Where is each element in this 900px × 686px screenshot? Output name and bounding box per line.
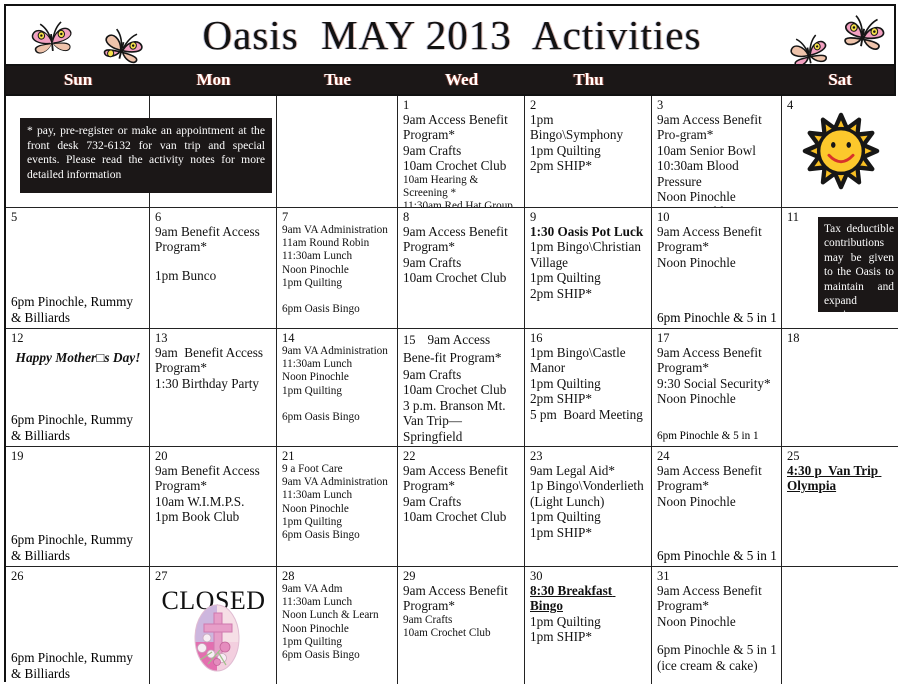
event-item: 2pm SHIP* (530, 286, 647, 301)
day-cell-20[interactable]: 209am Benefit Access Program*10am W.I.M.… (150, 447, 277, 567)
event-item: 6pm Pinochle & 5 in 1 (657, 430, 777, 443)
event-item: 6pm Oasis Bingo (282, 303, 393, 316)
event-item: 6pm Oasis Bingo (282, 529, 393, 542)
butterfly-icon (835, 10, 892, 62)
event-item: 1pm Quilting (282, 277, 393, 290)
event-item: 1pm Quilting (530, 614, 647, 629)
day-cell-19[interactable]: 196pm Pinochle, Rummy & Billiards (6, 447, 150, 567)
event-item: 10am Crochet Club (403, 382, 520, 397)
event-item: 9am Access Benefit Program* (657, 224, 777, 255)
event-list: 9am Access Benefit Pro-gram*10am Senior … (657, 112, 777, 208)
calendar-page: Oasis MAY 2013 Activities (0, 0, 900, 686)
event-item: 11:30am Lunch (282, 250, 393, 263)
event-list: 9am VA Adm11:30am LunchNoon Lunch & Lear… (282, 583, 393, 662)
event-item: 1pm Quilting (530, 376, 647, 391)
event-item: Noon Pinochle (282, 623, 393, 636)
event-item: 9am Benefit Access Program* (155, 224, 272, 255)
event-item: 1pm Bingo\Christian Village (530, 239, 647, 270)
event-item: (ice cream & cake) (657, 658, 777, 673)
day-cell-22[interactable]: 229am Access Benefit Program*9am Crafts1… (398, 447, 525, 567)
butterfly-icon (26, 18, 78, 65)
event-list: 9am Benefit Access Program*1pm Bunco (155, 224, 272, 283)
event-item: Happy Mother□s Day! (11, 345, 145, 365)
day-number: 14 (282, 331, 393, 345)
event-item: 11am Round Robin (282, 237, 393, 250)
weekday-header-sat: Sat (782, 66, 898, 94)
event-list: 9am Access Benefit Program*9am Crafts10a… (403, 224, 520, 286)
event-item: 9am Access Benefit Pro-gram* (657, 112, 777, 143)
day-number: 16 (530, 331, 647, 345)
event-list: 1pm Bingo\Castle Manor1pm Quilting2pm SH… (530, 345, 647, 422)
day-number: 31 (657, 569, 777, 583)
event-item: 9 a Foot Care (282, 463, 393, 476)
event-item: 1p Bingo\Vonderlieth (Light Lunch) (530, 478, 647, 509)
event-list: 9am Access Benefit Program*Noon Pinochle (657, 224, 777, 270)
day-number: 24 (657, 449, 777, 463)
day-cell-12[interactable]: 126pm Pinochle, Rummy & BilliardsHappy M… (6, 329, 150, 447)
event-item: 6pm Pinochle, Rummy & Billiards (11, 532, 145, 563)
day-cell-10[interactable]: 106pm Pinochle & 5 in 19am Access Benefi… (652, 208, 782, 329)
event-item: Noon Pinochle (657, 494, 777, 509)
day-cell-2[interactable]: 21pm Bingo\Symphony1pm Quilting2pm SHIP* (525, 96, 652, 208)
day-cell-1[interactable]: 19am Access Benefit Program*9am Crafts10… (398, 96, 525, 208)
day-cell-31[interactable]: 319am Access Benefit Program*Noon Pinoch… (652, 567, 782, 684)
event-item: 9am Crafts (403, 143, 520, 158)
event-item: 6pm Pinochle & 5 in 1 (657, 310, 777, 325)
event-list: 9am Access Benefit Program*Noon Pinochle… (657, 583, 777, 673)
event-item: 6pm Pinochle, Rummy & Billiards (11, 294, 145, 325)
day-cell-27[interactable]: 27CLOSED (150, 567, 277, 684)
event-item: 1:30 Birthday Party (155, 376, 272, 391)
event-list: 9am Benefit Access Program*10am W.I.M.P.… (155, 463, 272, 525)
day-number: 7 (282, 210, 393, 224)
event-item: 3 p.m. Branson Mt. Van Trip—Springfield (403, 398, 520, 444)
event-item: 9am Access Benefit Program* (403, 463, 520, 494)
day-number: 22 (403, 449, 520, 463)
event-item: 9am Access Benefit Program* (403, 224, 520, 255)
event-item: 4:30 p Van Trip Olympia (787, 463, 894, 494)
event-item: 9am Crafts (403, 367, 520, 382)
event-item: 1pm Quilting (530, 143, 647, 158)
event-item: 1pm Quilting (530, 270, 647, 285)
event-list: 1pm Bingo\Symphony1pm Quilting2pm SHIP* (530, 112, 647, 174)
event-item: 10am Crochet Club (403, 270, 520, 285)
day-cell-4[interactable]: 4 (782, 96, 898, 208)
weekday-header-blank (652, 66, 782, 94)
event-item: 5 pm Board Meeting (530, 407, 647, 422)
event-item: 10am Senior Bowl (657, 143, 777, 158)
tax-deductible-note: Tax deductible contributions may be give… (818, 217, 898, 312)
day-cell-29[interactable]: 299am Access Benefit Program*9am Crafts1… (398, 567, 525, 684)
day-cell-11[interactable]: 11Tax deductible contributions may be gi… (782, 208, 898, 329)
day-number: 13 (155, 331, 272, 345)
event-list: 9am Access Benefit Program*Noon Pinochle (657, 463, 777, 509)
day-cell-15[interactable]: 15 9am Access Bene-fit Program*9am Craft… (398, 329, 525, 447)
day-cell-21[interactable]: 219 a Foot Care9am VA Administration11:3… (277, 447, 398, 567)
weekday-header-mon: Mon (150, 66, 277, 94)
memorial-cross-icon (188, 602, 246, 674)
event-item: Noon Pinochle (657, 614, 777, 629)
event-item: 1pm Quilting (282, 636, 393, 649)
event-item: 6pm Pinochle & 5 in 1 (657, 548, 777, 563)
day-number: 26 (11, 569, 145, 583)
event-item: Noon Pinochle (282, 503, 393, 516)
day-number: 20 (155, 449, 272, 463)
day-number: 28 (282, 569, 393, 583)
event-item: 11:30am Red Hat Group (403, 200, 520, 208)
day-number: 15 (403, 333, 416, 347)
event-item: 9am Crafts (403, 494, 520, 509)
event-item: Noon Pinochle (657, 255, 777, 270)
calendar-grid: 19am Access Benefit Program*9am Crafts10… (4, 94, 896, 682)
event-list: 4:30 p Van Trip Olympia (787, 463, 894, 494)
day-number: 2 (530, 98, 647, 112)
day-number: 1 (403, 98, 520, 112)
event-item: 9:30 Social Security* (657, 376, 777, 391)
event-list: 9am Access Benefit Program*9:30 Social S… (657, 345, 777, 407)
event-item: 6pm Oasis Bingo (282, 411, 393, 424)
event-item: 10am Crochet Club (403, 158, 520, 173)
day-cell-14[interactable]: 149am VA Administration11:30am LunchNoon… (277, 329, 398, 447)
event-item: 9am Legal Aid* (530, 463, 647, 478)
event-item: 9am Access Benefit Program* (403, 583, 520, 614)
event-item: 9am VA Adm (282, 583, 393, 596)
event-item: 8:30 Breakfast Bingo (530, 583, 647, 614)
day-number: 6 (155, 210, 272, 224)
event-item: 9am Access Benefit Program* (657, 345, 777, 376)
day-number: 27 (155, 569, 272, 583)
day-cell-18[interactable]: 18 (782, 329, 898, 447)
event-list: 1:30 Oasis Pot Luck1pm Bingo\Christian V… (530, 224, 647, 301)
event-spacer (155, 255, 272, 268)
day-number: 18 (787, 331, 894, 345)
event-item: 11:30am Lunch (282, 596, 393, 609)
event-item: 1pm Quilting (282, 516, 393, 529)
day-cell-25[interactable]: 254:30 p Van Trip Olympia (782, 447, 898, 567)
day-number: 19 (11, 449, 145, 463)
day-cell-3[interactable]: 39am Access Benefit Pro-gram*10am Senior… (652, 96, 782, 208)
day-number: 9 (530, 210, 647, 224)
weekday-header-row: SunMonTueWedThuSat (4, 66, 896, 94)
event-item: 10am Hearing & Screening * (403, 174, 520, 200)
event-item: 6pm Pinochle, Rummy & Billiards (11, 412, 145, 443)
event-item: 6pm Oasis Bingo (282, 649, 393, 662)
event-item: 9am Benefit Access Program* (155, 345, 272, 376)
day-cell-8[interactable]: 89am Access Benefit Program*9am Crafts10… (398, 208, 525, 329)
event-item: 9am Crafts (403, 614, 520, 627)
day-number: 3 (657, 98, 777, 112)
event-item: 9am Access Benefit Program* (657, 583, 777, 614)
event-spacer (282, 398, 393, 411)
day-cell-24[interactable]: 246pm Pinochle & 5 in 19am Access Benefi… (652, 447, 782, 567)
event-item: 9am Access Benefit Program* (403, 112, 520, 143)
day-cell-16[interactable]: 161pm Bingo\Castle Manor1pm Quilting2pm … (525, 329, 652, 447)
day-number: 30 (530, 569, 647, 583)
event-spacer (657, 629, 777, 642)
event-item: 9am VA Administration (282, 476, 393, 489)
event-item: 2pm SHIP* (530, 391, 647, 406)
event-item: Noon Pinochle (282, 371, 393, 384)
event-item: 9am Benefit Access Program* (155, 463, 272, 494)
event-item: Noon Lunch & Learn (282, 609, 393, 622)
event-item: 10am W.I.M.P.S. (155, 494, 272, 509)
weekday-header-wed: Wed (398, 66, 525, 94)
day-number: 10 (657, 210, 777, 224)
day-cell-17[interactable]: 176pm Pinochle & 5 in 19am Access Benefi… (652, 329, 782, 447)
event-item: 6pm Pinochle, Rummy & Billiards (11, 650, 145, 681)
day-cell-9[interactable]: 91:30 Oasis Pot Luck1pm Bingo\Christian … (525, 208, 652, 329)
event-item: 1pm SHIP* (530, 629, 647, 644)
event-item: 1pm Bunco (155, 268, 272, 283)
event-item: 9am VA Administration (282, 345, 393, 358)
event-list: 9am Benefit Access Program*1:30 Birthday… (155, 345, 272, 391)
event-item: 11:30am Lunch (282, 358, 393, 371)
day-cell-7[interactable]: 79am VA Administration11am Round Robin11… (277, 208, 398, 329)
day-cell-28[interactable]: 289am VA Adm11:30am LunchNoon Lunch & Le… (277, 567, 398, 684)
event-item: 9am VA Administration (282, 224, 393, 237)
event-item: 6pm Pinochle & 5 in 1 (657, 642, 777, 657)
day-cell-empty[interactable] (277, 96, 398, 208)
day-cell-26[interactable]: 266pm Pinochle, Rummy & Billiards (6, 567, 150, 684)
day-cell-empty[interactable] (782, 567, 898, 684)
event-list: 9am VA Administration11:30am LunchNoon P… (282, 345, 393, 424)
event-item: 1pm Bingo\Castle Manor (530, 345, 647, 376)
event-item: 10am Crochet Club (403, 627, 520, 640)
event-item: 9am Access Benefit Program* (657, 463, 777, 494)
day-cell-23[interactable]: 239am Legal Aid*1p Bingo\Vonderlieth (Li… (525, 447, 652, 567)
day-number: 29 (403, 569, 520, 583)
event-item: 1pm SHIP* (530, 525, 647, 540)
event-list: Happy Mother□s Day! (11, 345, 145, 365)
weekday-header-thu: Thu (525, 66, 652, 94)
day-number: 8 (403, 210, 520, 224)
day-number: 17 (657, 331, 777, 345)
event-item: Noon Pinochle (657, 391, 777, 406)
event-item: 1pm Book Club (155, 509, 272, 524)
asterisk-legend-note: * pay, pre-register or make an appointme… (20, 118, 272, 193)
sun-icon (798, 108, 884, 194)
event-item: 2pm SHIP* (530, 158, 647, 173)
calendar-title-banner: Oasis MAY 2013 Activities (4, 4, 896, 66)
event-item: 1pm Bingo\Symphony (530, 112, 647, 143)
event-item: Noon Pinochle (657, 189, 777, 204)
event-list: 9am Access Bene-fit Program*9am Crafts10… (403, 331, 520, 444)
day-cell-13[interactable]: 139am Benefit Access Program*1:30 Birthd… (150, 329, 277, 447)
day-cell-6[interactable]: 69am Benefit Access Program*1pm Bunco (150, 208, 277, 329)
day-number: 23 (530, 449, 647, 463)
event-list: 9am VA Administration11am Round Robin11:… (282, 224, 393, 316)
event-item: 1pm Quilting (530, 509, 647, 524)
event-item: Noon Pinochle (282, 264, 393, 277)
day-number: 5 (11, 210, 145, 224)
event-list: 9am Access Benefit Program*9am Crafts10a… (403, 583, 520, 640)
day-number: 12 (11, 331, 145, 345)
event-item: 1:30 Oasis Pot Luck (530, 224, 647, 239)
event-list: 9 a Foot Care9am VA Administration11:30a… (282, 463, 393, 542)
day-cell-5[interactable]: 56pm Pinochle, Rummy & Billiards (6, 208, 150, 329)
event-list: 9am Legal Aid*1p Bingo\Vonderlieth (Ligh… (530, 463, 647, 540)
event-spacer (282, 290, 393, 303)
weekday-header-tue: Tue (277, 66, 398, 94)
event-item: 10am Crochet Club (403, 509, 520, 524)
event-item: 9am Access Bene-fit Program* (403, 332, 502, 365)
weekday-header-sun: Sun (6, 66, 150, 94)
day-cell-30[interactable]: 308:30 Breakfast Bingo1pm Quilting1pm SH… (525, 567, 652, 684)
day-number: 21 (282, 449, 393, 463)
event-list: 9am Access Benefit Program*9am Crafts10a… (403, 112, 520, 208)
event-item: 9am Crafts (403, 255, 520, 270)
event-item: 10:30am Blood Pressure (657, 158, 777, 189)
event-item: 11:30am Lunch (282, 489, 393, 502)
event-list: 8:30 Breakfast Bingo1pm Quilting1pm SHIP… (530, 583, 647, 645)
event-item: 1pm Quilting (282, 385, 393, 398)
day-number: 25 (787, 449, 894, 463)
event-list: 9am Access Benefit Program*9am Crafts10a… (403, 463, 520, 525)
